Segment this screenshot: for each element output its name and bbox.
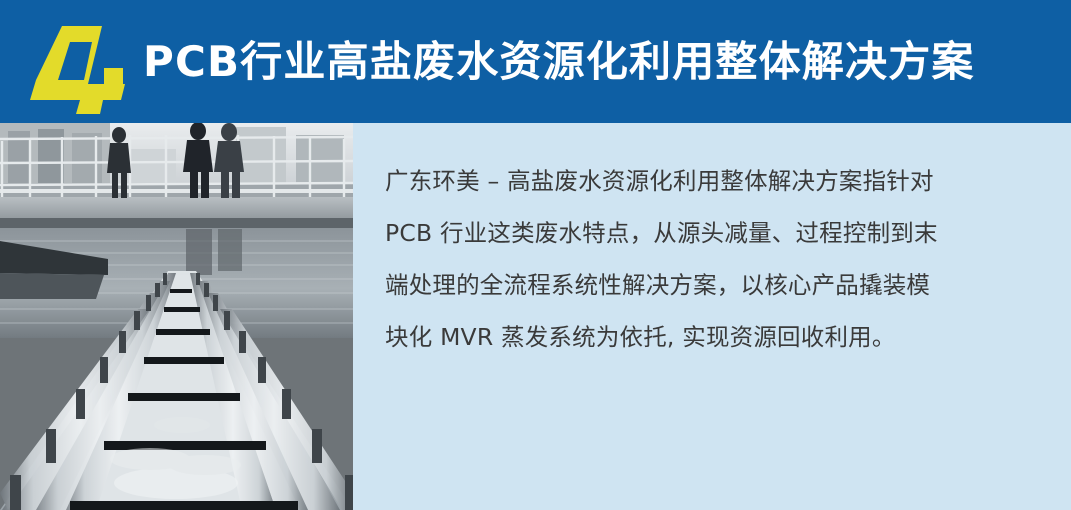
slide-root: PCB行业高盐废水资源化利用整体解决方案: [0, 0, 1071, 510]
paragraph-line: 广东环美 – 高盐废水资源化利用整体解决方案指针对: [385, 155, 1045, 207]
description-panel: 广东环美 – 高盐废水资源化利用整体解决方案指针对 PCB 行业这类废水特点，从…: [353, 123, 1071, 510]
facility-photo: [0, 123, 353, 510]
section-number-4-icon: [26, 18, 130, 114]
paragraph-line: 块化 MVR 蒸发系统为依托, 实现资源回收利用。: [385, 311, 1045, 363]
paragraph-line: 端处理的全流程系统性解决方案，以核心产品撬装模: [385, 259, 1045, 311]
section-header-banner: PCB行业高盐废水资源化利用整体解决方案: [0, 0, 1071, 123]
content-body: 广东环美 – 高盐废水资源化利用整体解决方案指针对 PCB 行业这类废水特点，从…: [0, 123, 1071, 510]
paragraph-line: PCB 行业这类废水特点，从源头减量、过程控制到末: [385, 207, 1045, 259]
description-paragraph: 广东环美 – 高盐废水资源化利用整体解决方案指针对 PCB 行业这类废水特点，从…: [385, 155, 1045, 363]
page-title: PCB行业高盐废水资源化利用整体解决方案: [143, 0, 975, 123]
